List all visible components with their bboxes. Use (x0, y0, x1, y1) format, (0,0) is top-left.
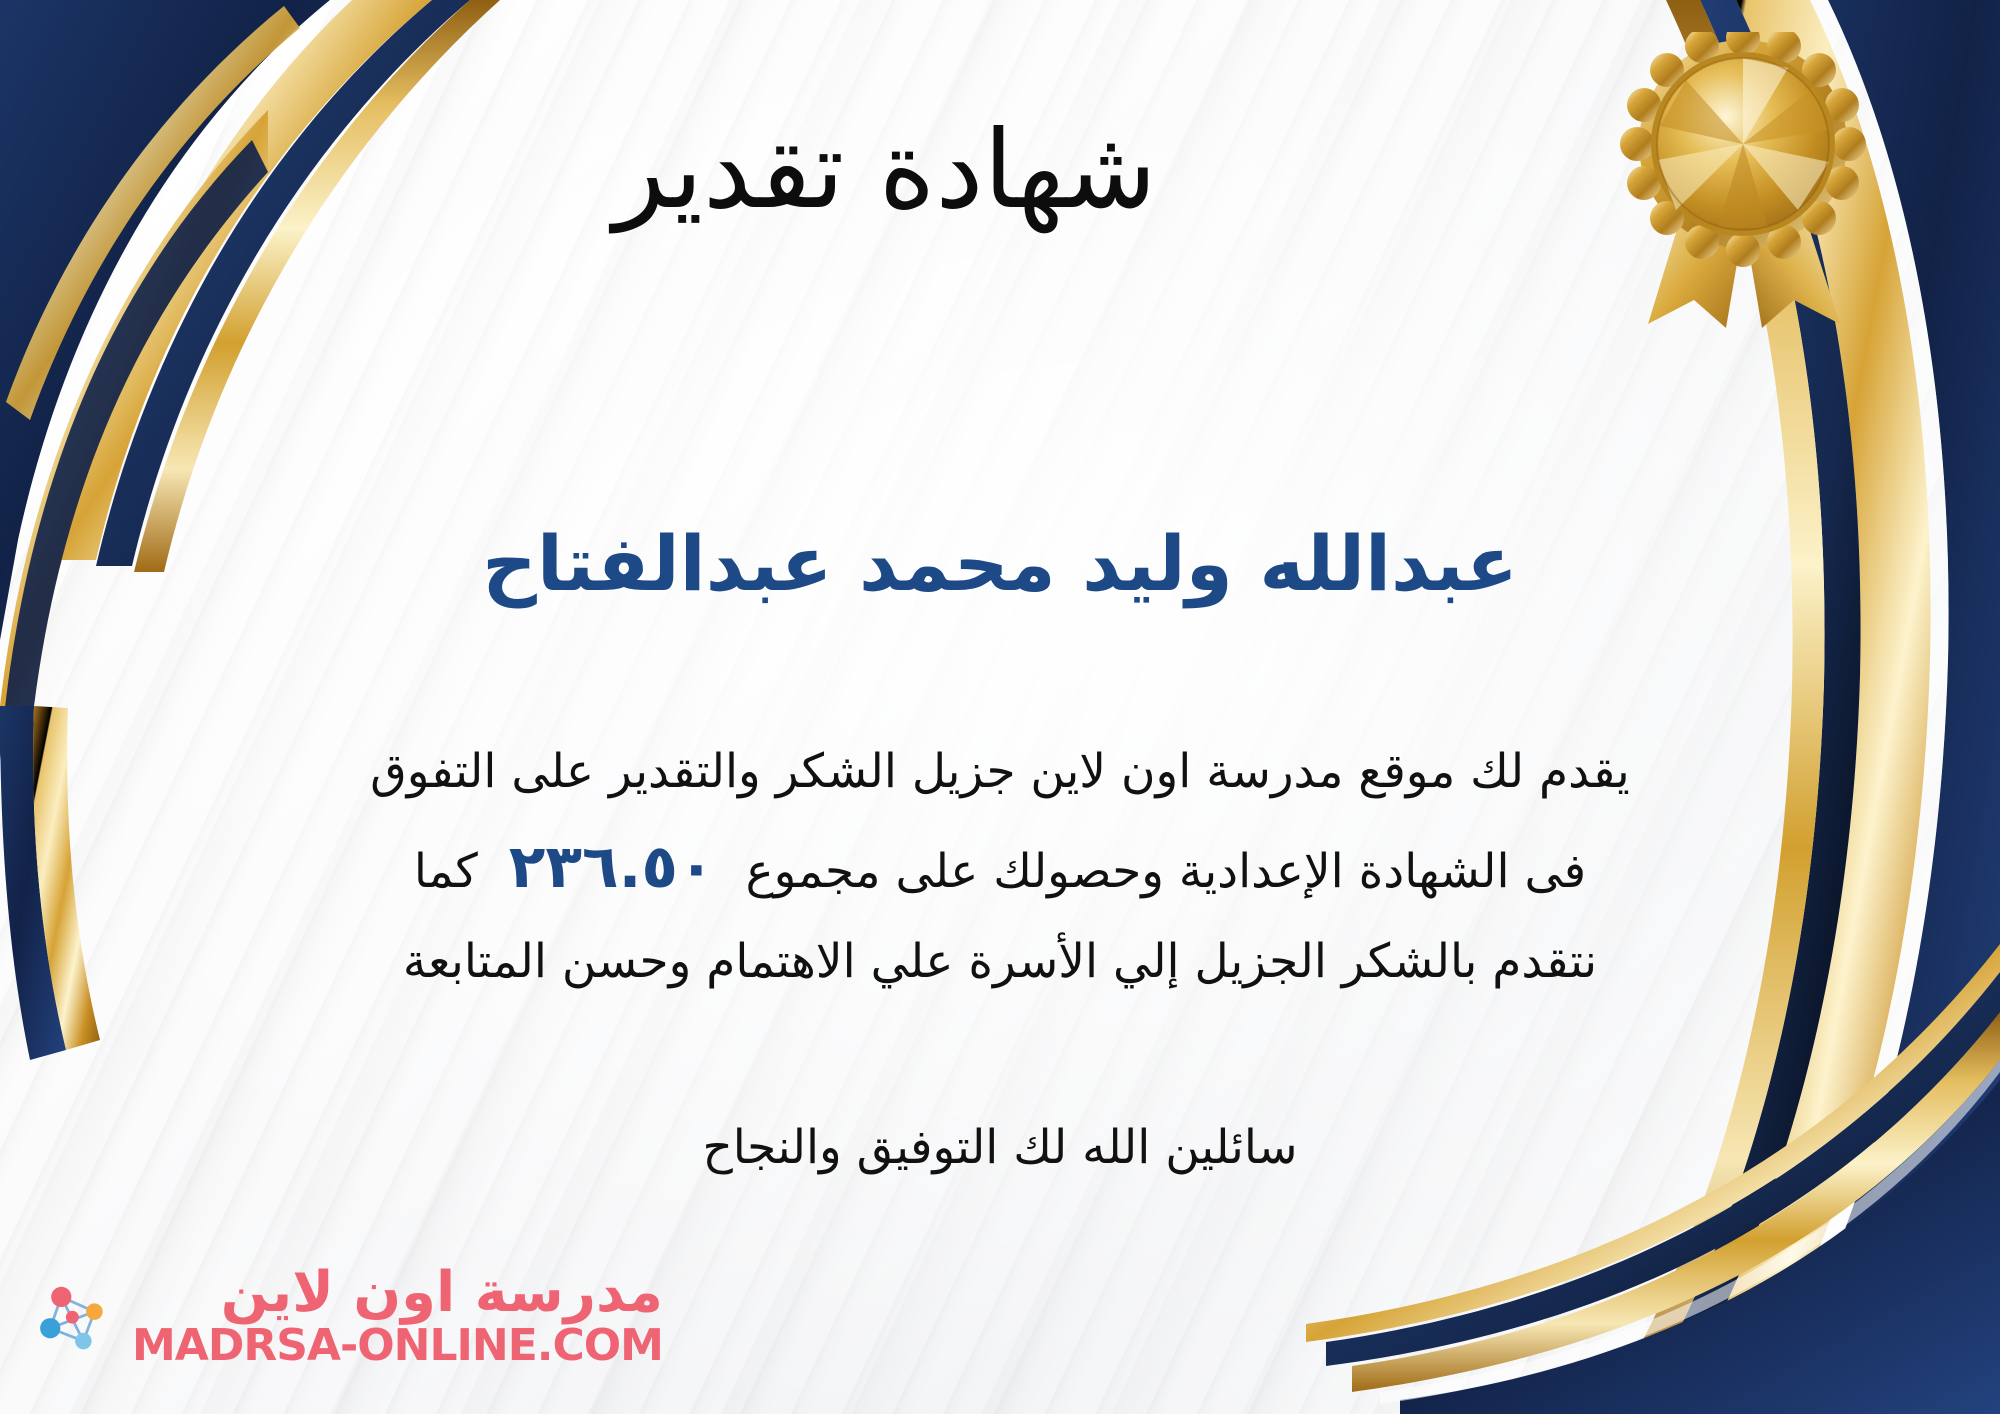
certificate-canvas: شهادة تقدير عبدالله وليد محمد عبدالفتاح … (0, 0, 2000, 1414)
body-line-2: فى الشهادة الإعدادية وحصولك على مجموع ٢٣… (60, 814, 1940, 921)
body-line-3: نتقدم بالشكر الجزيل إلي الأسرة علي الاهت… (60, 920, 1940, 1004)
body-line-1: يقدم لك موقع مدرسة اون لاين جزيل الشكر و… (60, 730, 1940, 814)
body-line-2-prefix: فى الشهادة الإعدادية وحصولك على مجموع (746, 844, 1587, 899)
network-nodes-icon (30, 1273, 122, 1365)
closing-line: سائلين الله لك التوفيق والنجاح (0, 1120, 2000, 1175)
recipient-name: عبدالله وليد محمد عبدالفتاح (0, 520, 2000, 607)
logo-english-text: MADRSA-ONLINE.COM (132, 1321, 663, 1372)
certificate-title: شهادة تقدير (0, 112, 2000, 231)
logo-text-block: مدرسة اون لاين MADRSA-ONLINE.COM (132, 1265, 663, 1372)
body-line-2-suffix: كما (414, 844, 478, 899)
score-value: ٢٣٦.٥٠ (493, 832, 731, 902)
site-logo[interactable]: مدرسة اون لاين MADRSA-ONLINE.COM (30, 1265, 663, 1372)
logo-arabic-text: مدرسة اون لاين (221, 1265, 663, 1321)
certificate-body: يقدم لك موقع مدرسة اون لاين جزيل الشكر و… (60, 730, 1940, 1004)
